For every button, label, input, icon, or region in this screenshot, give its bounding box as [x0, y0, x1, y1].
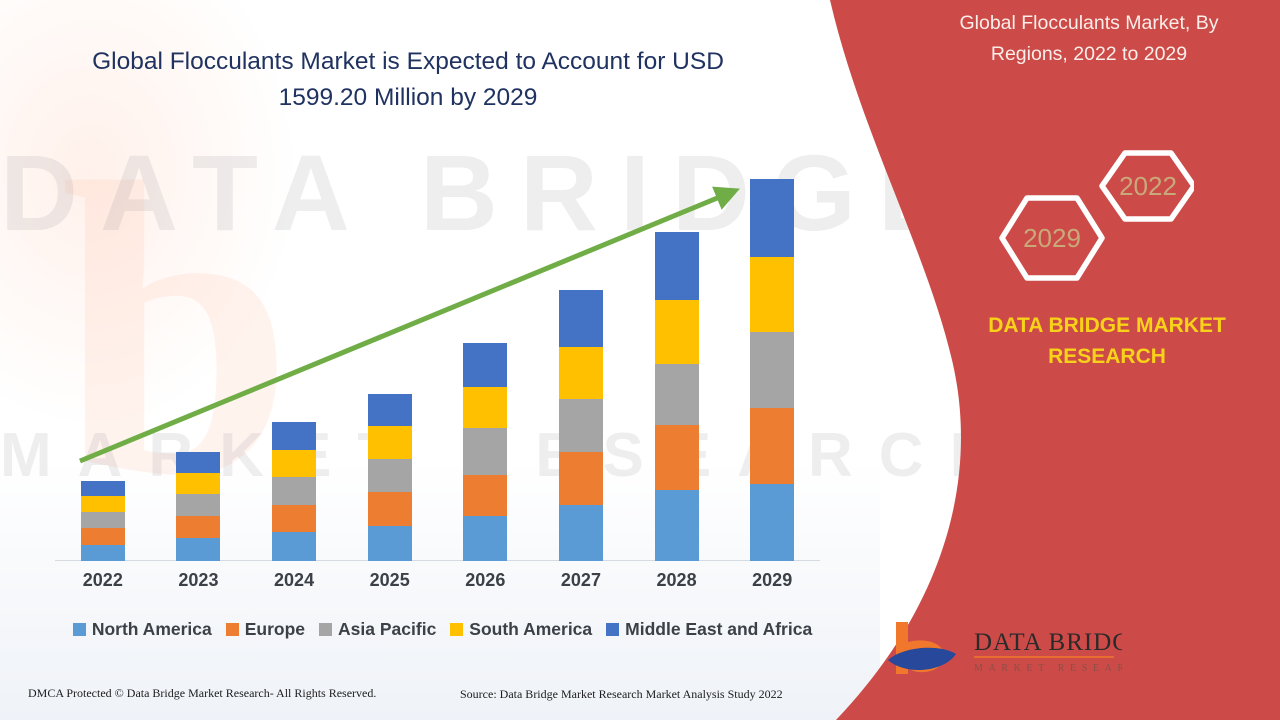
bar-column[interactable] — [272, 422, 316, 561]
bar-segment[interactable] — [463, 428, 507, 474]
legend-label: Asia Pacific — [338, 619, 436, 640]
bar-column[interactable] — [176, 452, 220, 561]
bar-segment[interactable] — [272, 505, 316, 533]
x-axis-label: 2025 — [342, 570, 438, 591]
svg-text:2022: 2022 — [1119, 171, 1177, 201]
legend-swatch — [73, 623, 86, 636]
bar-segment[interactable] — [463, 475, 507, 516]
brand-name: DATA BRIDGE MARKET RESEARCH — [952, 310, 1262, 372]
bar-segment[interactable] — [655, 232, 699, 300]
legend-item[interactable]: South America — [450, 619, 592, 640]
svg-text:DATA BRIDGE: DATA BRIDGE — [974, 629, 1122, 656]
brand-name-line-1: DATA BRIDGE MARKET — [988, 314, 1226, 337]
bar-segment[interactable] — [559, 290, 603, 348]
bar-segment[interactable] — [463, 516, 507, 561]
bar-column[interactable] — [463, 343, 507, 561]
infographic-slide: b DATA BRIDGE MARKET RESEARCH Global Flo… — [0, 0, 1280, 720]
x-axis-label: 2024 — [246, 570, 342, 591]
bar-segment[interactable] — [750, 332, 794, 408]
bar-segment[interactable] — [272, 532, 316, 561]
svg-text:2029: 2029 — [1023, 223, 1081, 253]
bar-segment[interactable] — [655, 300, 699, 364]
bar-column[interactable] — [81, 481, 125, 561]
legend-swatch — [450, 623, 463, 636]
bar-segment[interactable] — [176, 473, 220, 495]
x-axis-label: 2026 — [437, 570, 533, 591]
bar-segment[interactable] — [750, 408, 794, 484]
bar-segment[interactable] — [176, 494, 220, 516]
bar-column[interactable] — [750, 179, 794, 561]
bar-segment[interactable] — [81, 512, 125, 528]
bar-segment[interactable] — [655, 490, 699, 561]
bar-segment[interactable] — [463, 387, 507, 428]
bar-segment[interactable] — [81, 496, 125, 511]
legend-item[interactable]: Asia Pacific — [319, 619, 436, 640]
chart-plot-area — [55, 150, 820, 561]
x-axis-label: 2027 — [533, 570, 629, 591]
data-bridge-logo: DATA BRIDGE MARKET RESEARCH — [882, 616, 1122, 688]
bar-segment[interactable] — [272, 422, 316, 450]
footer-copyright: DMCA Protected © Data Bridge Market Rese… — [28, 686, 376, 701]
bar-column[interactable] — [655, 232, 699, 561]
x-axis-label: 2028 — [629, 570, 725, 591]
bar-segment[interactable] — [368, 459, 412, 492]
svg-text:MARKET RESEARCH: MARKET RESEARCH — [974, 663, 1122, 674]
chart-legend: North AmericaEuropeAsia PacificSouth Ame… — [55, 615, 830, 643]
chart-x-axis-labels: 20222023202420252026202720282029 — [55, 570, 820, 600]
bar-segment[interactable] — [272, 450, 316, 477]
bar-segment[interactable] — [559, 505, 603, 562]
legend-swatch — [319, 623, 332, 636]
legend-label: Middle East and Africa — [625, 619, 812, 640]
bar-segment[interactable] — [368, 526, 412, 561]
hexagon-year-badges: 2022 2029 — [994, 150, 1194, 295]
bar-column[interactable] — [559, 290, 603, 561]
bar-segment[interactable] — [750, 257, 794, 332]
bar-segment[interactable] — [655, 425, 699, 490]
bar-segment[interactable] — [81, 545, 125, 561]
legend-swatch — [606, 623, 619, 636]
bar-segment[interactable] — [559, 452, 603, 504]
bar-segment[interactable] — [81, 528, 125, 544]
bar-column[interactable] — [368, 394, 412, 561]
bar-segment[interactable] — [176, 452, 220, 473]
bar-segment[interactable] — [176, 538, 220, 561]
bar-segment[interactable] — [368, 426, 412, 459]
bar-segment[interactable] — [750, 179, 794, 257]
footer-source: Source: Data Bridge Market Research Mark… — [460, 687, 783, 702]
bar-segment[interactable] — [655, 364, 699, 426]
bar-segment[interactable] — [81, 481, 125, 496]
legend-swatch — [226, 623, 239, 636]
bar-segment[interactable] — [559, 347, 603, 398]
x-axis-label: 2022 — [55, 570, 151, 591]
bar-segment[interactable] — [368, 394, 412, 427]
brand-name-line-2: RESEARCH — [1048, 345, 1166, 368]
legend-label: North America — [92, 619, 212, 640]
bar-segment[interactable] — [559, 399, 603, 452]
legend-label: South America — [469, 619, 592, 640]
bar-segment[interactable] — [368, 492, 412, 526]
x-axis-label: 2023 — [150, 570, 246, 591]
legend-item[interactable]: Europe — [226, 619, 305, 640]
legend-item[interactable]: Middle East and Africa — [606, 619, 812, 640]
bar-segment[interactable] — [463, 343, 507, 387]
legend-item[interactable]: North America — [73, 619, 212, 640]
stacked-bar-chart: 20222023202420252026202720282029 North A… — [0, 0, 860, 660]
panel-title: Global Flocculants Market, By Regions, 2… — [924, 8, 1254, 70]
bar-segment[interactable] — [272, 477, 316, 505]
legend-label: Europe — [245, 619, 305, 640]
bar-segment[interactable] — [176, 516, 220, 539]
bar-segment[interactable] — [750, 484, 794, 561]
